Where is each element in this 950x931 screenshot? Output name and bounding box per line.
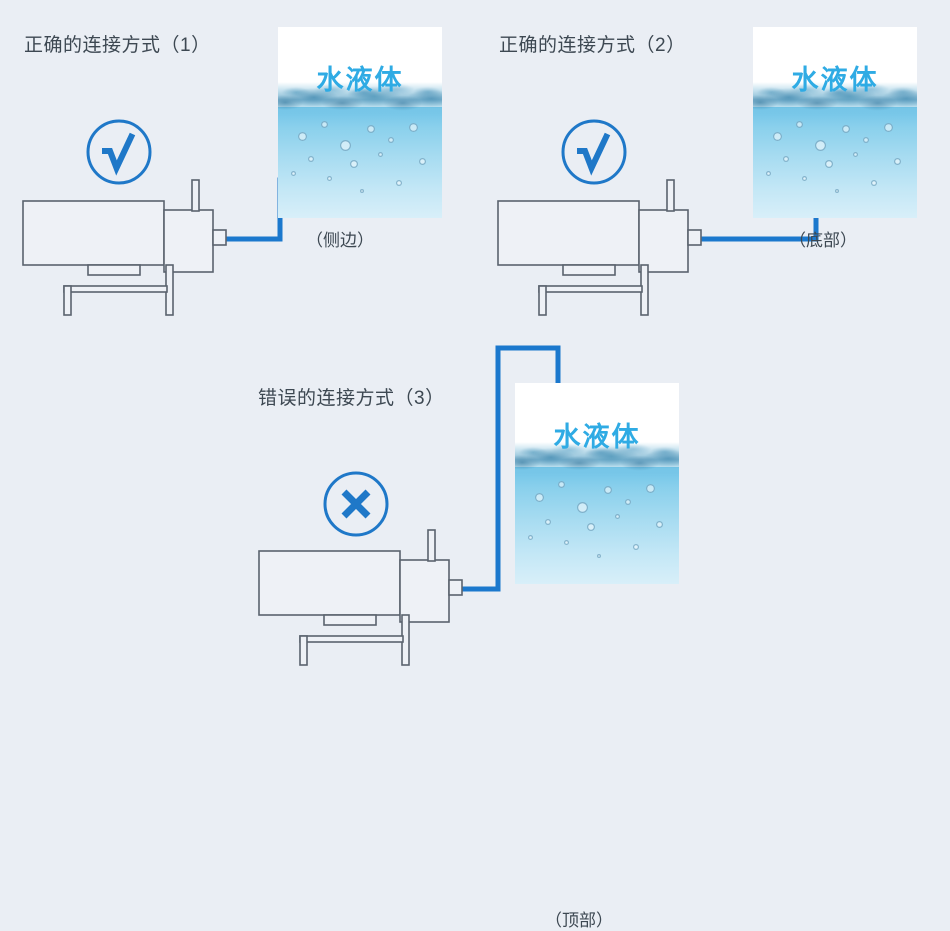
pump-machine bbox=[22, 180, 252, 320]
water-bubbles bbox=[278, 107, 442, 218]
panel-wrong-3: 错误的连接方式（3） 水液体 bbox=[240, 340, 710, 691]
diagram-canvas: 正确的连接方式（1） 水液体 bbox=[0, 0, 950, 691]
tank-label: 水液体 bbox=[515, 415, 679, 454]
panel-title: 正确的连接方式（1） bbox=[24, 30, 211, 57]
panel-title: 正确的连接方式（2） bbox=[499, 30, 686, 57]
tank-caption: （底部） bbox=[789, 226, 857, 251]
panel-correct-1: 正确的连接方式（1） 水液体 bbox=[0, 0, 475, 345]
water-bubbles bbox=[515, 467, 679, 584]
check-circle-icon bbox=[560, 118, 628, 186]
pump-machine bbox=[258, 530, 488, 670]
check-circle-icon bbox=[85, 118, 153, 186]
tank-caption: （侧边） bbox=[306, 226, 374, 251]
water-bubbles bbox=[753, 107, 917, 218]
water-tank: 水液体 bbox=[278, 27, 442, 218]
tank-label: 水液体 bbox=[278, 58, 442, 97]
panel-title: 错误的连接方式（3） bbox=[258, 383, 445, 410]
tank-label: 水液体 bbox=[753, 58, 917, 97]
water-tank: 水液体 bbox=[753, 27, 917, 218]
water-tank: 水液体 bbox=[515, 383, 679, 584]
panel-correct-2: 正确的连接方式（2） 水液体 bbox=[475, 0, 950, 345]
tank-caption: （顶部） bbox=[545, 906, 613, 931]
pump-machine bbox=[497, 180, 727, 320]
cross-circle-icon bbox=[322, 470, 390, 538]
